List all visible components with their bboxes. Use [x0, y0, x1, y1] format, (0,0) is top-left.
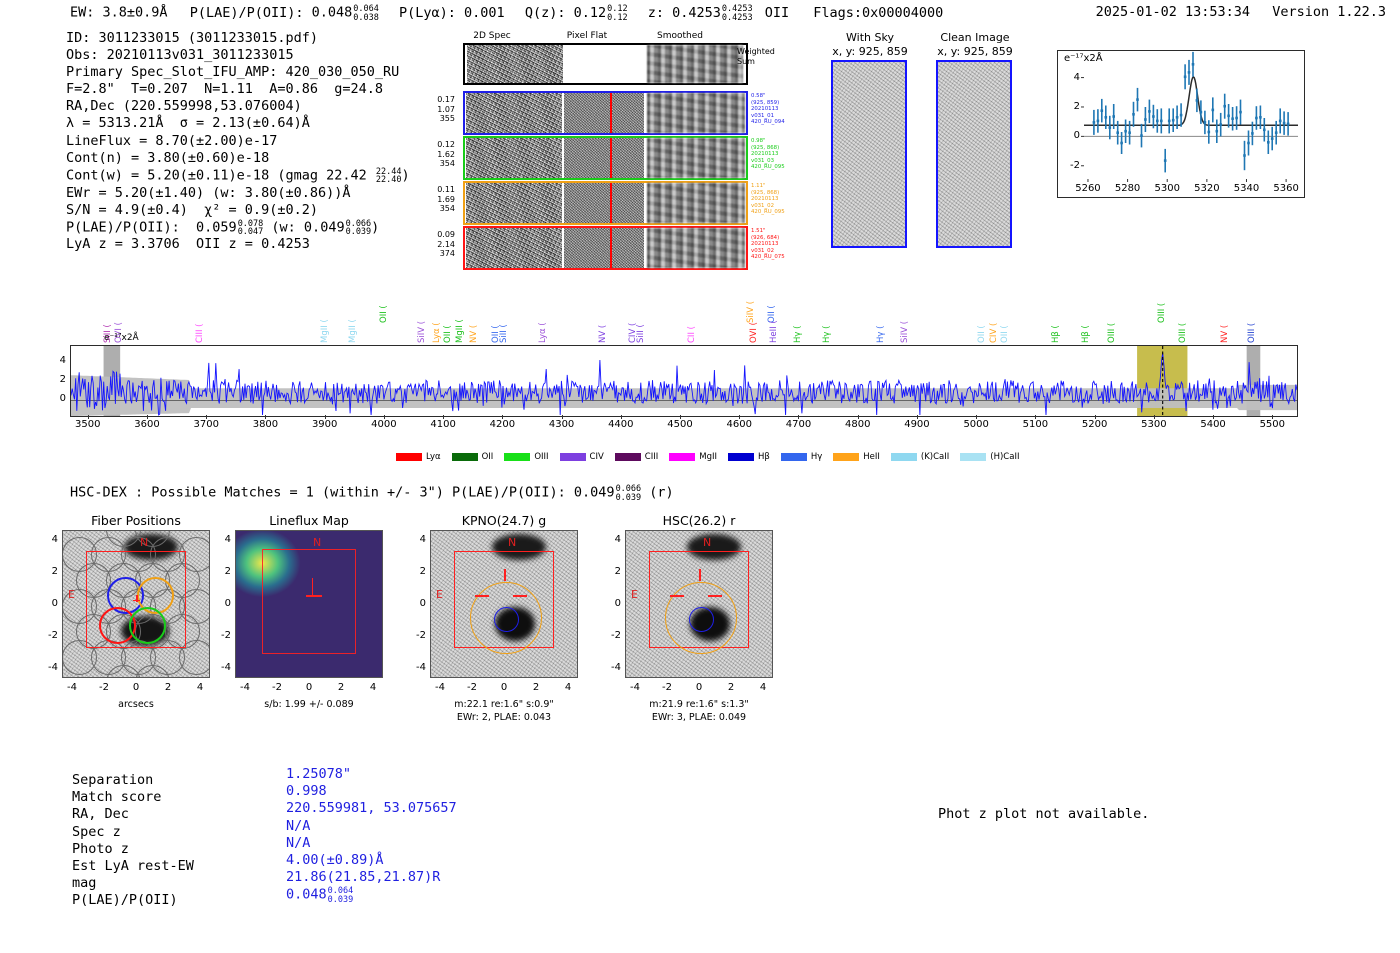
label-mag: mag: [72, 875, 194, 892]
compass-north: N: [703, 536, 711, 549]
fiber-row: [463, 136, 748, 180]
legend-item: MgII: [669, 452, 717, 462]
cutout-ytick: -4: [406, 662, 426, 673]
fiber-2dspec: [466, 138, 562, 178]
hscdex-suffix: (r): [649, 485, 673, 501]
emission-line-label: CIII (: [195, 297, 205, 343]
fiber-stat: 355: [409, 114, 455, 124]
cutout-ytick: -2: [38, 630, 58, 641]
info-ewr: EWr = 5.20(±1.40) (w: 3.80(±0.86))Å: [66, 185, 410, 202]
fiber-2dspec: [466, 93, 562, 133]
legend-label: HeII: [863, 452, 880, 462]
lineflux-inset-chart: e⁻¹⁷x2Å 526052805300532053405360-2024: [1035, 50, 1307, 222]
fullspec-tickmark: [976, 415, 977, 419]
fiber-stat: 0.11: [409, 185, 455, 195]
legend-label: Hβ: [758, 452, 770, 462]
legend-item: (K)CaII: [891, 452, 949, 462]
legend-item: Hγ: [781, 452, 822, 462]
cutout-ytick: 0: [601, 598, 621, 609]
header-z-species: OII: [765, 5, 789, 21]
cutout-xtick: 4: [360, 682, 386, 693]
value-radec: 220.559981, 53.075657: [286, 800, 457, 817]
inset-ytick: 4: [1062, 72, 1080, 83]
cleanimage-title: Clean Image: [920, 31, 1030, 44]
compass-east: E: [68, 588, 75, 601]
legend-item: Hβ: [728, 452, 770, 462]
legend-item: (H)CaII: [960, 452, 1019, 462]
legend-label: CIII: [645, 452, 658, 462]
info-sn: S/N = 4.9(±0.4) χ² = 0.9(±0.2): [66, 202, 410, 219]
fiber-smoothed: [647, 228, 745, 268]
legend-label: OII: [482, 452, 494, 462]
emission-line-label: SiIV (: [417, 297, 427, 343]
fiber-pixelflat: [564, 228, 644, 268]
cutout-xtick: -4: [427, 682, 453, 693]
cutout-ytick: 2: [38, 566, 58, 577]
fiber-stat: 374: [409, 249, 455, 259]
fiber-left-stats: 0.111.69354: [409, 185, 455, 214]
emission-line-label: SiII (: [636, 297, 646, 343]
info-primary-spec: Primary Spec_Slot_IFU_AMP: 420_030_050_R…: [66, 64, 410, 81]
header-plae-lo: 0.038: [353, 13, 379, 23]
emission-line-label: OIII (: [1107, 297, 1117, 343]
cutout-image[interactable]: [625, 530, 773, 678]
label-est-lya-ew: Est LyA rest-EW: [72, 858, 194, 875]
emission-line-label: Lyα (: [432, 297, 442, 343]
header-z: z: 0.4253: [648, 5, 721, 21]
legend-item: CIII: [615, 452, 658, 462]
cutout-xtick: 2: [328, 682, 354, 693]
cutout-xtick: 0: [296, 682, 322, 693]
value-mag: 21.86(21.85,21.87)R: [286, 869, 457, 886]
hscdex-text: HSC-DEX : Possible Matches = 1 (within +…: [70, 485, 615, 501]
legend-swatch: [891, 453, 917, 461]
full-spectrum-chart: SiII (OVI (CIII (MgII (MgII (OII (SiIV (…: [70, 345, 1298, 417]
withsky-subtitle: x, y: 925, 859: [820, 45, 920, 58]
info-id: ID: 3011233015 (3011233015.pdf): [66, 30, 410, 47]
emission-line-label: MgII (: [455, 297, 465, 343]
cutout-caption-line1: m:22.1 re:1.6" s:0.9": [404, 698, 604, 711]
emission-line-label: Hβ (: [1081, 297, 1091, 343]
legend-label: Hγ: [811, 452, 822, 462]
compass-north: N: [508, 536, 516, 549]
legend-swatch: [781, 453, 807, 461]
emission-line-label: Hγ (: [822, 297, 832, 343]
fullspec-tickmark: [1154, 415, 1155, 419]
cutout-ytick: 4: [211, 534, 231, 545]
legend-label: CIV: [590, 452, 604, 462]
spectrum-legend: LyαOIIOIIICIVCIIIMgIIHβHγHeII(K)CaII(H)C…: [396, 452, 1030, 462]
header-datetime: 2025-01-02 13:53:34: [1096, 4, 1250, 20]
header-plae-value: 0.048: [312, 5, 353, 21]
fullspec-xtick: 3800: [243, 419, 287, 430]
inset-ytick: 0: [1062, 130, 1080, 141]
fiber-stat: 0.09: [409, 230, 455, 240]
emission-line-label: Hγ (: [793, 297, 803, 343]
cutout-xtick: 0: [491, 682, 517, 693]
emission-line-label: OII (: [379, 277, 389, 323]
value-separation: 1.25078": [286, 766, 457, 783]
legend-label: MgII: [699, 452, 717, 462]
info-cont-w: Cont(w) = 5.20(±0.11)e-18 (gmag 22.42 22…: [66, 167, 410, 185]
emission-line-label: OII (: [1000, 297, 1010, 343]
cutout-xtick: 0: [686, 682, 712, 693]
cutout-caption-line2: EWr: 3, PLAE: 0.049: [599, 711, 799, 724]
hscdex-plae-lo: 0.039: [616, 493, 642, 503]
legend-label: (H)CaII: [990, 452, 1019, 462]
cutout-xtick: -4: [59, 682, 85, 693]
info-lambda: λ = 5313.21Å σ = 2.13(±0.64)Å: [66, 115, 410, 132]
info-plae-prefix: P(LAE)/P(OII): 0.059: [66, 219, 237, 235]
fiber-center-marker: [610, 138, 612, 178]
label-spec-z: Spec z: [72, 824, 194, 841]
header-summary: EW: 3.8±0.9Å P(LAE)/P(OII): 0.0480.0640.…: [70, 4, 943, 21]
cutout-ytick: 4: [601, 534, 621, 545]
emission-line-label: Hβ (: [1051, 297, 1061, 343]
fullspec-xtick: 4200: [480, 419, 524, 430]
fiber-stat: 1.69: [409, 195, 455, 205]
fullspec-tickmark: [917, 415, 918, 419]
legend-swatch: [615, 453, 641, 461]
fullspec-tickmark: [798, 415, 799, 419]
fiber-center-marker: [610, 183, 612, 223]
value-spec-z: N/A: [286, 818, 457, 835]
cutout-xtick: 4: [187, 682, 213, 693]
fiber-row: [463, 91, 748, 135]
fullspec-xtick: 4800: [836, 419, 880, 430]
legend-label: OIII: [534, 452, 548, 462]
fiber-meta: 0.58" (925, 859) 20210113 v031_01 420_RU…: [751, 93, 811, 126]
fullspec-tickmark: [680, 415, 681, 419]
fiber-2dspec: [466, 228, 562, 268]
cutout-image[interactable]: [430, 530, 578, 678]
fullspec-xtick: 3600: [125, 419, 169, 430]
inset-ytick: -2: [1062, 160, 1080, 171]
legend-item: HeII: [833, 452, 880, 462]
weighted-sum-row: [463, 43, 748, 85]
emission-line-label: OII (: [977, 297, 987, 343]
legend-item: OIII: [504, 452, 548, 462]
info-plae-lo: 0.047: [238, 227, 264, 237]
fullspec-tickmark: [206, 415, 207, 419]
withsky-title: With Sky: [820, 31, 920, 44]
cutout-ytick: -4: [601, 662, 621, 673]
cutout-ytick: 2: [211, 566, 231, 577]
label-photo-z: Photo z: [72, 841, 194, 858]
fullspec-xtick: 4500: [658, 419, 702, 430]
cutout-xtick: 2: [523, 682, 549, 693]
cutout-image[interactable]: [62, 530, 210, 678]
emission-line-label: NV (: [469, 297, 479, 343]
emission-line-label: OIII (: [1247, 297, 1257, 343]
cutout-ytick: 2: [601, 566, 621, 577]
emission-line-label: Lyα (: [538, 297, 548, 343]
inset-ytick: 2: [1062, 101, 1080, 112]
emission-line-label: OVI (: [749, 297, 759, 343]
inset-xtick: 5320: [1192, 183, 1222, 194]
fullspec-ytick: 0: [46, 393, 66, 404]
fiber-smoothed: [647, 138, 745, 178]
fullspec-tickmark: [739, 415, 740, 419]
info-plae-suffix: ): [371, 219, 379, 235]
fullspec-xtick: 3900: [303, 419, 347, 430]
emission-line-label: OIII (: [1157, 277, 1167, 323]
value-photo-z: N/A: [286, 835, 457, 852]
cutout-title: KPNO(24.7) g: [424, 513, 584, 528]
info-plae-w-prefix: (w: 0.049: [271, 219, 344, 235]
match-table-labels: Separation Match score RA, Dec Spec z Ph…: [72, 772, 194, 910]
label-plae: P(LAE)/P(OII): [72, 892, 194, 909]
fullspec-xtick: 5100: [1013, 419, 1057, 430]
legend-label: Lyα: [426, 452, 441, 462]
cutout-ytick: -2: [406, 630, 426, 641]
value-plae-main: 0.048: [286, 887, 327, 903]
cutout-xtick: 4: [750, 682, 776, 693]
fullspec-tickmark: [325, 415, 326, 419]
legend-swatch: [560, 453, 586, 461]
fullspec-xtick: 4600: [717, 419, 761, 430]
cutout-xtick: -2: [459, 682, 485, 693]
label-radec: RA, Dec: [72, 806, 194, 823]
header-plya: P(Lyα): 0.001: [399, 5, 505, 21]
cutout-xtick: 2: [155, 682, 181, 693]
cutout-xtick: -2: [654, 682, 680, 693]
info-obs: Obs: 20210113v031_3011233015: [66, 47, 410, 64]
fullspec-tickmark: [621, 415, 622, 419]
legend-swatch: [833, 453, 859, 461]
hscdex-summary: HSC-DEX : Possible Matches = 1 (within +…: [70, 484, 674, 501]
inset-xtick: 5360: [1271, 183, 1301, 194]
label-separation: Separation: [72, 772, 194, 789]
cutout-xtick: 4: [555, 682, 581, 693]
fullspec-tickmark: [562, 415, 563, 419]
cutout-image[interactable]: [235, 530, 383, 678]
header-z-lo: 0.4253: [722, 13, 753, 23]
header-qz-lo: 0.12: [607, 13, 627, 23]
legend-swatch: [396, 453, 422, 461]
cutout-caption: s/b: 1.99 +/- 0.089: [209, 698, 409, 711]
emission-line-label: NV (: [1220, 297, 1230, 343]
fullspec-xtick: 3500: [66, 419, 110, 430]
fiber-meta: 1.51" (926, 684) 20210113 v031_02 420_RU…: [751, 228, 811, 261]
cleanimage-image: [936, 60, 1012, 248]
cutout-ytick: -2: [601, 630, 621, 641]
cutout-xtick: 0: [123, 682, 149, 693]
info-cont-w-text: Cont(w) = 5.20(±0.11)e-18 (gmag 22.42: [66, 167, 375, 183]
fiber-row: [463, 181, 748, 225]
emission-line-label: MgII (: [320, 297, 330, 343]
fullspec-tickmark: [265, 415, 266, 419]
fullspec-ytick: 2: [46, 374, 66, 385]
fiber-stat: 2.14: [409, 240, 455, 250]
emission-line-label: CII (: [687, 297, 697, 343]
legend-item: Lyα: [396, 452, 441, 462]
info-seeing: F=2.8" T=0.207 N=1.11 A=0.86 g=24.8: [66, 81, 410, 98]
label-match-score: Match score: [72, 789, 194, 806]
value-est-lya-ew: 4.00(±0.89)Å: [286, 852, 457, 869]
cutout-ytick: -4: [38, 662, 58, 673]
withsky-image: [831, 60, 907, 248]
cutout-ytick: 0: [211, 598, 231, 609]
fiber-pixelflat: [564, 183, 644, 223]
match-table-values: 1.25078" 0.998 220.559981, 53.075657 N/A…: [286, 766, 457, 904]
compass-north: N: [140, 536, 148, 549]
compass-north: N: [313, 536, 321, 549]
fiber-row: [463, 226, 748, 270]
fullspec-xtick: 4400: [599, 419, 643, 430]
fullspec-xtick: 5500: [1250, 419, 1294, 430]
emission-line-label: SiII (: [499, 297, 509, 343]
header-qz: Q(z): 0.12: [525, 5, 606, 21]
legend-swatch: [728, 453, 754, 461]
legend-swatch: [960, 453, 986, 461]
info-redshifts: LyA z = 3.3706 OII z = 0.4253: [66, 236, 410, 253]
fullspec-xtick: 5400: [1191, 419, 1235, 430]
info-radec: RA,Dec (220.559998,53.076004): [66, 98, 410, 115]
fullspec-ytick: 4: [46, 355, 66, 366]
info-plae: P(LAE)/P(OII): 0.0590.0780.047 (w: 0.049…: [66, 219, 410, 237]
cutout-ytick: 0: [38, 598, 58, 609]
cutout-xtick: -2: [264, 682, 290, 693]
fiber-stat: 1.07: [409, 105, 455, 115]
fullspec-xtick: 4000: [362, 419, 406, 430]
source-info-block: ID: 3011233015 (3011233015.pdf) Obs: 202…: [66, 30, 410, 254]
cutout-xtick: -4: [232, 682, 258, 693]
fiber-center-marker: [610, 93, 612, 133]
legend-item: OII: [452, 452, 494, 462]
emission-line-label: HeII (: [769, 297, 779, 343]
header-timestamp: 2025-01-02 13:53:34 Version 1.22.3: [1096, 4, 1386, 20]
header-flags: Flags:0x00004000: [813, 5, 943, 21]
emission-line-label: MgII (: [348, 297, 358, 343]
cutout-ytick: 4: [406, 534, 426, 545]
fiber-smoothed: [647, 183, 745, 223]
emission-line-label: OIII (: [1178, 297, 1188, 343]
fullspec-tickmark: [1095, 415, 1096, 419]
fullspec-xtick: 4300: [540, 419, 584, 430]
compass-east: E: [436, 588, 443, 601]
weighted-sum-label: Weighted Sum: [737, 47, 797, 66]
cutout-caption-line1: arcsecs: [36, 698, 236, 711]
emission-line-label: NV (: [598, 297, 608, 343]
fullspec-xtick: 3700: [184, 419, 228, 430]
cutout-xtick: 2: [718, 682, 744, 693]
cutout-title: HSC(26.2) r: [619, 513, 779, 528]
fiber-left-stats: 0.092.14374: [409, 230, 455, 259]
inset-xtick: 5280: [1113, 183, 1143, 194]
value-plae: 0.0480.0640.039: [286, 886, 457, 904]
legend-swatch: [452, 453, 478, 461]
cutout-title: Fiber Positions: [56, 513, 216, 528]
fullspec-tickmark: [1035, 415, 1036, 419]
emission-line-label: Hγ (: [876, 297, 886, 343]
inset-xtick: 5340: [1231, 183, 1261, 194]
header-version: Version 1.22.3: [1272, 4, 1386, 20]
fiber-stat: 354: [409, 204, 455, 214]
emission-line-label: SiIV (: [900, 297, 910, 343]
fullspec-xtick: 4900: [895, 419, 939, 430]
info-gmag-lo: 22.40: [376, 175, 402, 185]
header-ew: EW: 3.8±0.9Å: [70, 5, 168, 21]
inset-xtick: 5300: [1152, 183, 1182, 194]
fiber-stat: 0.17: [409, 95, 455, 105]
cutout-xtick: -4: [622, 682, 648, 693]
fiber-pixelflat: [564, 93, 644, 133]
cutout-title: Lineflux Map: [229, 513, 389, 528]
fullspec-annotation: e⁻¹⁷x2Å: [104, 333, 139, 343]
fullspec-tickmark: [1272, 415, 1273, 419]
legend-swatch: [504, 453, 530, 461]
legend-label: (K)CaII: [921, 452, 949, 462]
cutout-ytick: -2: [211, 630, 231, 641]
info-cont-n: Cont(n) = 3.80(±0.60)e-18: [66, 150, 410, 167]
cleanimage-subtitle: x, y: 925, 859: [920, 45, 1030, 58]
col-title-smoothed: Smoothed: [635, 31, 725, 41]
cutout-caption: arcsecs: [36, 698, 236, 711]
fiber-stat: 354: [409, 159, 455, 169]
fiber-stat: 1.62: [409, 150, 455, 160]
fullspec-tickmark: [858, 415, 859, 419]
fullspec-tickmark: [88, 415, 89, 419]
header-plae-label: P(LAE)/P(OII):: [190, 5, 304, 21]
fullspec-tickmark: [443, 415, 444, 419]
fiber-meta: 1.11" (925, 868) 20210113 v031_02 420_RU…: [751, 183, 811, 216]
info-plae-w-lo: 0.039: [346, 227, 372, 237]
fullspec-tickmark: [1213, 415, 1214, 419]
fiber-left-stats: 0.171.07355: [409, 95, 455, 124]
fiber-left-stats: 0.121.62354: [409, 140, 455, 169]
cutout-xtick: -2: [91, 682, 117, 693]
value-plae-lo: 0.039: [328, 895, 354, 905]
fiber-meta: 0.98" (925, 868) 20210113 v031_03 420_RU…: [751, 138, 811, 171]
cutout-ytick: 2: [406, 566, 426, 577]
photz-unavailable-note: Phot z plot not available.: [938, 806, 1149, 822]
legend-swatch: [669, 453, 695, 461]
cutout-ytick: -4: [211, 662, 231, 673]
fiber-smoothed: [647, 93, 745, 133]
fullspec-tickmark: [502, 415, 503, 419]
fullspec-xtick: 4100: [421, 419, 465, 430]
fiber-2dspec: [466, 183, 562, 223]
fiber-pixelflat: [564, 138, 644, 178]
fullspec-tickmark: [147, 415, 148, 419]
value-match-score: 0.998: [286, 783, 457, 800]
info-lineflux: LineFlux = 8.70(±2.00)e-17: [66, 133, 410, 150]
fullspec-xtick: 5300: [1132, 419, 1176, 430]
fiber-center-marker: [610, 228, 612, 268]
cutout-ytick: 4: [38, 534, 58, 545]
fullspec-tickmark: [384, 415, 385, 419]
cutout-caption-line1: s/b: 1.99 +/- 0.089: [209, 698, 409, 711]
inset-xtick: 5260: [1073, 183, 1103, 194]
emission-line-label: CIV (: [989, 297, 999, 343]
fullspec-xtick: 5000: [954, 419, 998, 430]
fullspec-xtick: 4700: [776, 419, 820, 430]
cutout-caption-line1: m:21.9 re:1.6" s:1.3": [599, 698, 799, 711]
emission-line-label: OII (: [443, 297, 453, 343]
legend-item: CIV: [560, 452, 604, 462]
cutout-caption: m:22.1 re:1.6" s:0.9"EWr: 2, PLAE: 0.043: [404, 698, 604, 724]
col-title-pixelflat: Pixel Flat: [542, 31, 632, 41]
fullspec-xtick: 5200: [1073, 419, 1117, 430]
fiber-stat: 0.12: [409, 140, 455, 150]
compass-east: E: [631, 588, 638, 601]
cutout-ytick: 0: [406, 598, 426, 609]
cutout-caption: m:21.9 re:1.6" s:1.3"EWr: 3, PLAE: 0.049: [599, 698, 799, 724]
col-title-2dspec: 2D Spec: [447, 31, 537, 41]
cutout-caption-line2: EWr: 2, PLAE: 0.043: [404, 711, 604, 724]
